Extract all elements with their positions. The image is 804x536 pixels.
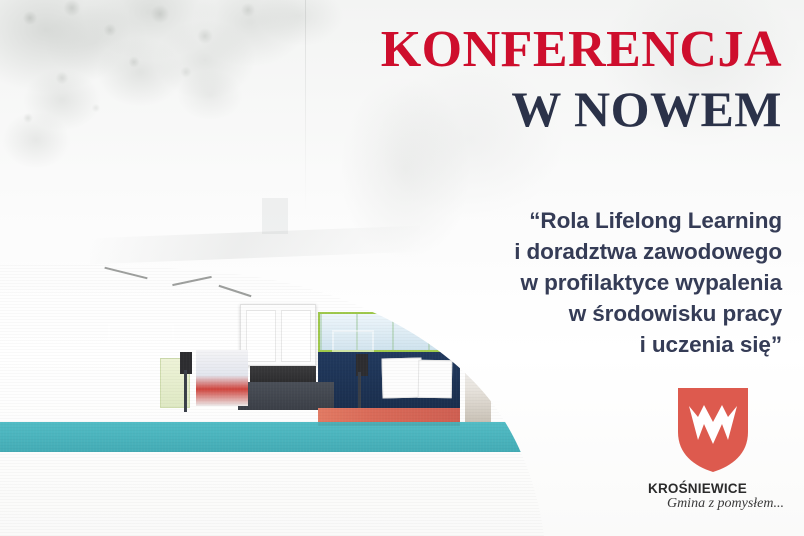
photo-wall-bracket-1 — [104, 267, 147, 280]
photo-info-board — [196, 350, 248, 406]
photo-speaker-stand-left — [184, 370, 187, 412]
background-chimney — [262, 198, 288, 234]
conference-theme-quote: “Rola Lifelong Learning i doradztwa zawo… — [362, 205, 782, 360]
headline-line-2: W NOWEM — [302, 84, 782, 134]
krosniewice-logo: KROŚNIEWICE Gmina z pomysłem... — [642, 386, 792, 518]
photo-flipchart-1 — [381, 357, 422, 398]
photo-basketball-hoop-left — [108, 324, 174, 352]
photo-floor-stripe-teal — [0, 422, 545, 452]
conference-poster: KONFERENCJA W NOWEM “Rola Lifelong Learn… — [0, 0, 804, 536]
quote-line-2: i doradztwa zawodowego — [362, 236, 782, 267]
quote-line-4: w środowisku pracy — [362, 298, 782, 329]
photo-flipchart-2 — [418, 360, 453, 399]
photo-slide-column-right — [281, 310, 311, 362]
photo-ceiling-light — [150, 258, 194, 268]
photo-wall-bracket-2 — [172, 276, 212, 286]
photo-slide-column-left — [246, 310, 276, 362]
poster-headline: KONFERENCJA W NOWEM — [302, 24, 782, 134]
logo-city-name: KROŚNIEWICE — [642, 481, 792, 496]
coat-of-arms-shield-icon — [676, 386, 750, 474]
headline-line-1: KONFERENCJA — [302, 24, 782, 76]
quote-line-3: w profilaktyce wypalenia — [362, 267, 782, 298]
quote-line-1: “Rola Lifelong Learning — [362, 205, 782, 236]
photo-ceiling-light-2 — [270, 268, 296, 276]
photo-projection-screen — [240, 304, 316, 366]
logo-tagline: Gmina z pomysłem... — [642, 496, 792, 512]
quote-line-5: i uczenia się” — [362, 329, 782, 360]
photo-presenter-table — [238, 382, 334, 410]
photo-wall-bracket-3 — [219, 285, 252, 297]
